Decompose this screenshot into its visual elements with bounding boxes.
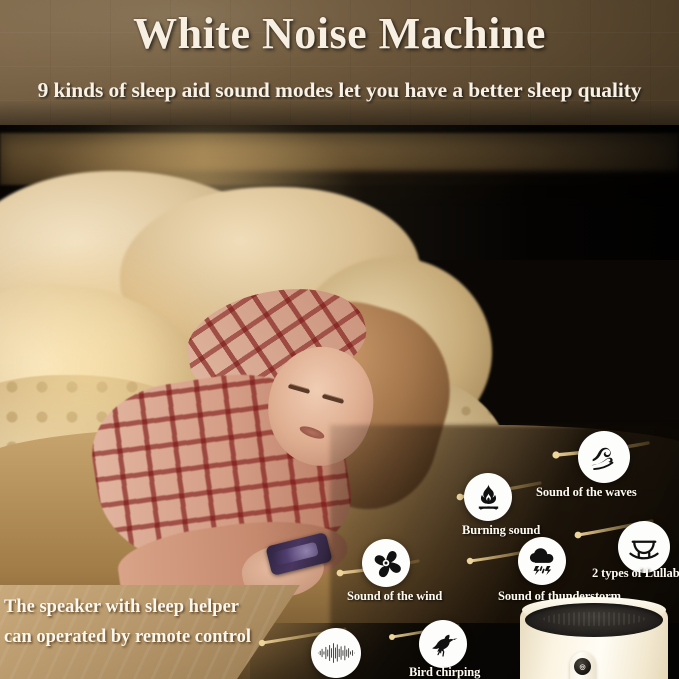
feature-label-burning: Burning sound	[462, 523, 540, 538]
power-button[interactable]: ◎	[574, 658, 591, 675]
feature-label-bird: Bird chirping	[409, 665, 480, 679]
waveform-icon	[311, 628, 361, 678]
campfire-flame-icon	[464, 473, 512, 521]
speaker-grille-icon	[525, 603, 663, 637]
banner-text-block: The speaker with sleep helper can operat…	[4, 593, 284, 653]
fan-pinwheel-icon	[362, 539, 410, 587]
feature-label-waves: Sound of the waves	[536, 485, 637, 500]
product-marketing-image: White Noise Machine 9 kinds of sleep aid…	[0, 0, 679, 679]
banner-line-2: can operated by remote control	[4, 623, 284, 653]
page-subtitle: 9 kinds of sleep aid sound modes let you…	[0, 78, 679, 103]
feature-label-lullaby: 2 types of Lullaby	[592, 566, 679, 581]
banner-line-1: The speaker with sleep helper	[4, 593, 284, 623]
feature-label-wind: Sound of the wind	[347, 589, 442, 604]
wave-swirl-icon	[578, 431, 630, 483]
bedroom-photo-scene: Sound of the waves Burning sound	[0, 125, 679, 679]
storm-cloud-lightning-icon	[518, 537, 566, 585]
page-title: White Noise Machine	[0, 9, 679, 58]
bird-icon	[419, 620, 467, 668]
header-banner: White Noise Machine 9 kinds of sleep aid…	[0, 0, 679, 125]
